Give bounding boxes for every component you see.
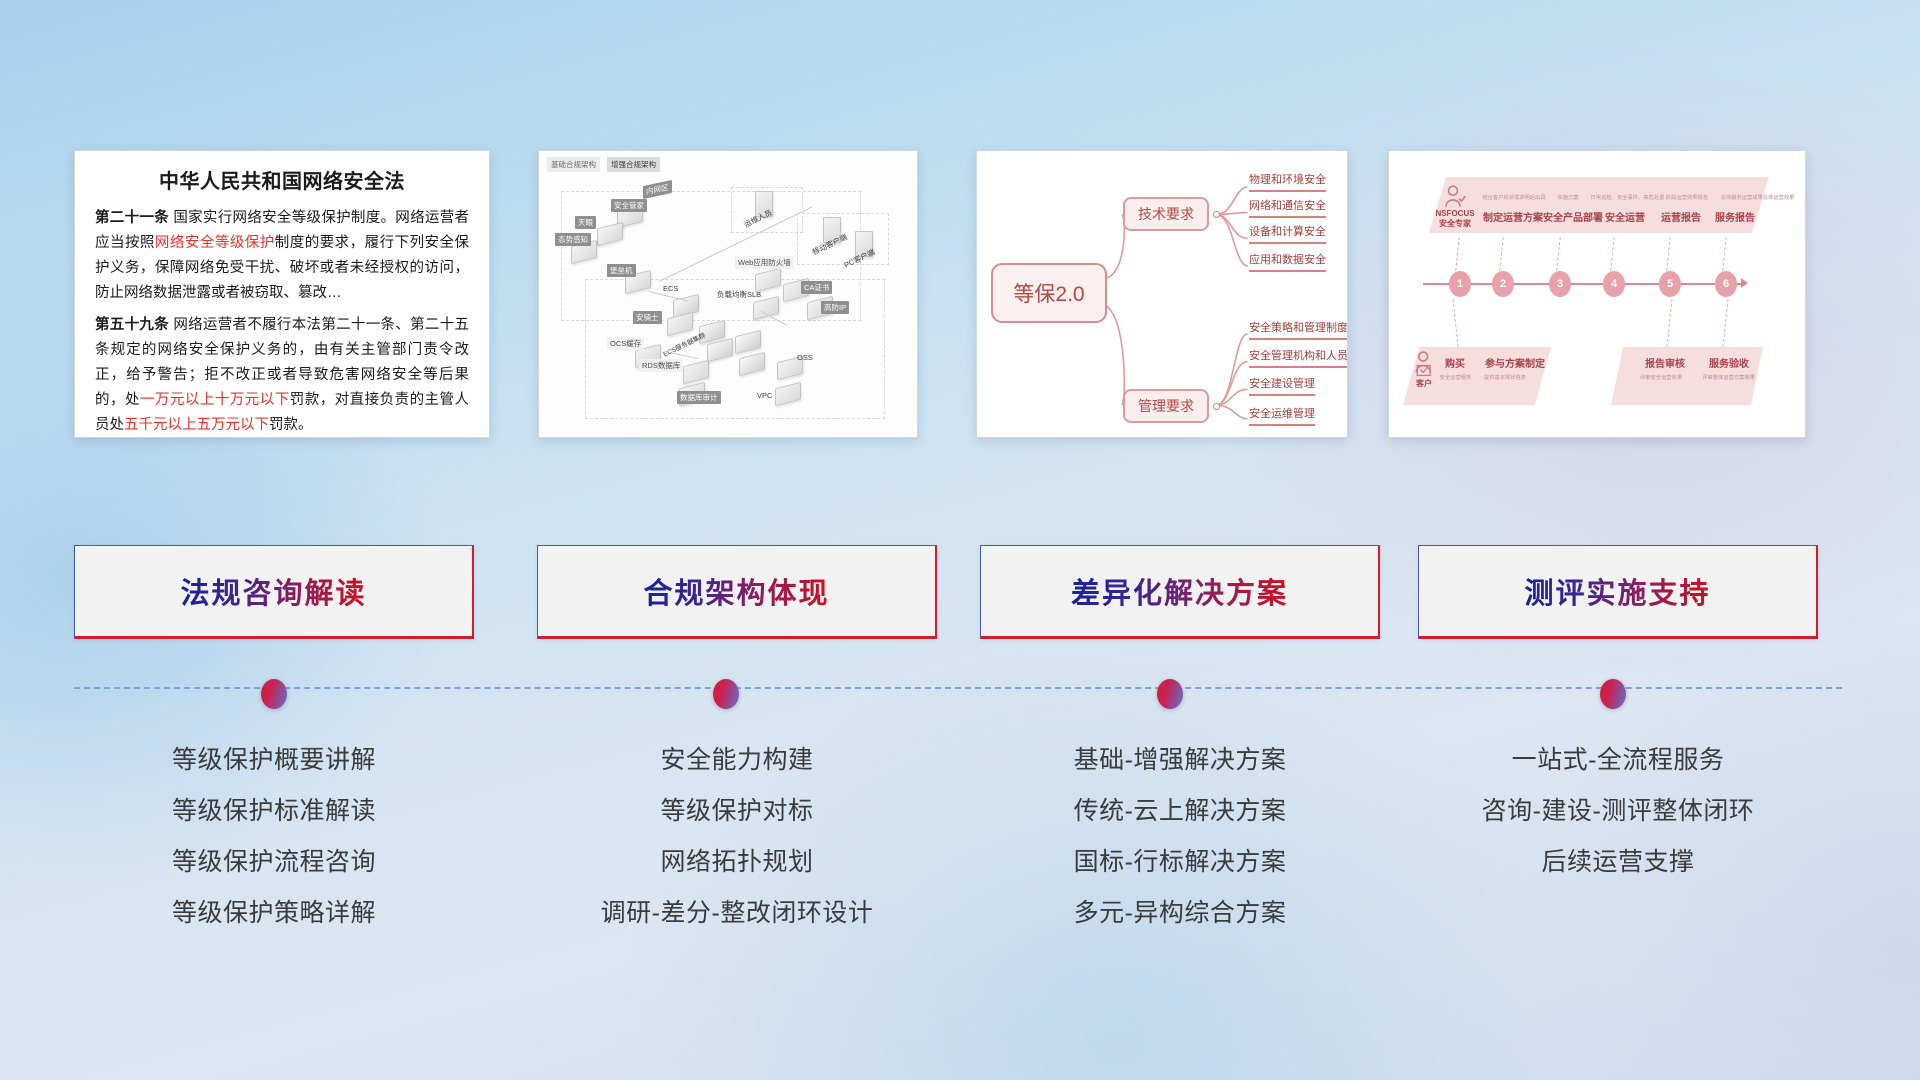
arch-label-vpc: VPC	[757, 391, 772, 400]
process-step-6[interactable]: 6	[1715, 271, 1737, 297]
list-item: 多元-异构综合方案	[980, 888, 1380, 939]
process-axis-arrow-icon	[1741, 278, 1748, 288]
process-step-4[interactable]: 4	[1603, 271, 1625, 297]
mindmap-leaf-operations: 安全运维管理	[1249, 407, 1315, 426]
arch-label-tianyan: 天眼	[575, 216, 596, 229]
arch-label-anqishi: 安骑士	[633, 311, 662, 324]
process-step-3[interactable]: 3	[1549, 271, 1571, 297]
heading-box-regulation-consulting[interactable]: 法规咨询解读	[74, 545, 474, 639]
article-59-highlight-2: 五千元以上五万元以下	[124, 417, 269, 433]
arch-label-situational-awareness: 态势感知	[555, 233, 591, 246]
process-brand-sub: 安全专家	[1431, 219, 1479, 229]
mindmap-collapse-dot-technical[interactable]	[1213, 211, 1220, 218]
list-item: 国标-行标解决方案	[980, 837, 1380, 888]
list-item: 咨询-建设-测评整体闭环	[1418, 786, 1818, 837]
card-mindmap-dengbao[interactable]: 等保2.0 技术要求 物理和环境安全 网络和通信安全 设备和计算安全 应用和数据…	[976, 150, 1348, 438]
process-top-sub-2: 实施方案	[1557, 193, 1578, 201]
mindmap-leaf-physical-env: 物理和环境安全	[1249, 173, 1326, 192]
process-top-title-2: 安全产品部署	[1543, 209, 1603, 224]
architecture-tabs[interactable]: 基础合规架构 增强合规架构	[547, 157, 660, 172]
process-step-5[interactable]: 5	[1659, 271, 1681, 297]
process-brand-name: NSFOCUS	[1431, 209, 1479, 219]
process-bottom-title-3: 报告审核	[1645, 355, 1685, 370]
process-step-2[interactable]: 2	[1492, 271, 1514, 297]
arch-label-ca-cert: CA证书	[801, 281, 832, 294]
card-cybersecurity-law[interactable]: 中华人民共和国网络安全法 第二十一条 国家实行网络安全等级保护制度。网络运营者应…	[74, 150, 490, 438]
list-item: 网络拓扑规划	[537, 837, 937, 888]
arch-label-anti-ddos-ip: 高防IP	[821, 301, 849, 314]
article-59-highlight-1: 一万元以上十万元以下	[140, 392, 290, 408]
process-top-sub-5: 总体服务运营成果总体运营效果	[1721, 193, 1795, 201]
arch-label-waf: Web应用防火墙	[735, 256, 794, 269]
process-top-title-3: 安全运营	[1605, 209, 1645, 224]
process-customer-label: 客户	[1411, 379, 1437, 389]
arch-label-slb: 负载均衡SLB	[717, 289, 761, 300]
arch-label-rds: RDS数据库	[639, 359, 683, 372]
heading-label-1: 法规咨询解读	[180, 570, 366, 612]
list-item: 一站式-全流程服务	[1418, 735, 1818, 786]
heading-label-3: 差异化解决方案	[1071, 570, 1288, 612]
list-item: 等级保护标准解读	[74, 786, 474, 837]
list-item: 传统-云上解决方案	[980, 786, 1380, 837]
heading-box-compliance-architecture[interactable]: 合规架构体现	[537, 545, 937, 639]
arch-label-ecs: ECS	[663, 284, 678, 293]
mindmap-leaf-org-personnel: 安全管理机构和人员	[1249, 349, 1348, 368]
list-item: 等级保护流程咨询	[74, 837, 474, 888]
process-bottom-sub-4: 评审整体运营方案效果	[1702, 373, 1755, 381]
mindmap-branch-management: 管理要求	[1123, 389, 1209, 423]
process-bottom-sub-1: 安全运营服务	[1440, 373, 1472, 381]
arch-label-ocs-cache: OCS缓存	[607, 337, 644, 350]
list-item: 等级保护策略详解	[74, 888, 474, 939]
law-text-body: 中华人民共和国网络安全法 第二十一条 国家实行网络安全等级保护制度。网络运营者应…	[75, 151, 489, 438]
list-item: 等级保护对标	[537, 786, 937, 837]
article-59-label: 第五十九条	[95, 317, 169, 333]
arch-label-oss: OSS	[797, 353, 813, 362]
process-axis-line	[1423, 283, 1743, 285]
arch-label-bastion-host: 堡垒机	[607, 264, 636, 277]
detail-column-2: 安全能力构建 等级保护对标 网络拓扑规划 调研-差分-整改闭环设计	[537, 735, 937, 939]
heading-label-4: 测评实施支持	[1524, 570, 1710, 612]
process-top-title-4: 运营报告	[1661, 209, 1701, 224]
law-article-59: 第五十九条 网络运营者不履行本法第二十一条、第二十五条规定的网络安全保护义务的，…	[95, 313, 469, 438]
architecture-diagram: 基础合规架构 增强合规架构 内网区 安全管家 天眼 态势感知 堡垒机 ECS 安…	[539, 151, 917, 437]
arch-label-security-steward: 安全管家	[611, 199, 647, 212]
process-top-sub-3: 日常巡检、安全事件、高危处置	[1591, 193, 1665, 201]
list-item: 后续运营支撑	[1418, 837, 1818, 888]
article-21-highlight: 网络安全等级保护	[155, 235, 275, 251]
list-item: 等级保护概要讲解	[74, 735, 474, 786]
detail-column-4: 一站式-全流程服务 咨询-建设-测评整体闭环 后续运营支撑	[1418, 735, 1818, 888]
process-bottom-title-2: 参与方案制定	[1485, 355, 1545, 370]
card-nsfocus-process[interactable]: NSFOCUS 安全专家 客户 结合客户现状需求明后出具 实施方案 日常巡检、安…	[1388, 150, 1806, 438]
process-top-title-1: 制定运营方案	[1483, 209, 1543, 224]
article-21-label: 第二十一条	[95, 210, 169, 226]
process-top-title-5: 服务报告	[1715, 209, 1755, 224]
mindmap-leaf-network-comm: 网络和通信安全	[1249, 199, 1326, 218]
process-step-1[interactable]: 1	[1449, 271, 1471, 297]
list-item: 安全能力构建	[537, 735, 937, 786]
process-top-sub-4: 阶段运营效果报告	[1666, 193, 1708, 201]
heading-label-2: 合规架构体现	[643, 570, 829, 612]
process-bottom-title-1: 购买	[1445, 355, 1465, 370]
mindmap-branch-technical: 技术要求	[1123, 197, 1209, 231]
heading-box-differentiated-solution[interactable]: 差异化解决方案	[980, 545, 1380, 639]
card-cloud-architecture[interactable]: 基础合规架构 增强合规架构 内网区 安全管家 天眼 态势感知 堡垒机 ECS 安…	[538, 150, 918, 438]
mindmap-collapse-dot-management[interactable]	[1213, 403, 1220, 410]
mindmap-leaf-device-compute: 设备和计算安全	[1249, 225, 1326, 244]
timeline-dashed-line	[74, 687, 1842, 689]
list-item: 基础-增强解决方案	[980, 735, 1380, 786]
heading-box-assessment-support[interactable]: 测评实施支持	[1418, 545, 1818, 639]
screenshot-card-row: 中华人民共和国网络安全法 第二十一条 国家实行网络安全等级保护制度。网络运营者应…	[0, 150, 1920, 440]
arch-label-db-audit: 数据库审计	[677, 391, 721, 404]
article-59-text-c: 罚款。	[269, 417, 313, 433]
mindmap-leaf-policy-system: 安全策略和管理制度	[1249, 321, 1348, 340]
process-top-sub-1: 结合客户现状需求明后出具	[1482, 193, 1545, 201]
list-item: 调研-差分-整改闭环设计	[537, 888, 937, 939]
process-bottom-sub-3: 评审安全运营效果	[1640, 373, 1682, 381]
process-diagram: NSFOCUS 安全专家 客户 结合客户现状需求明后出具 实施方案 日常巡检、安…	[1389, 151, 1805, 437]
timeline-dot-2[interactable]	[713, 679, 739, 709]
process-bottom-sub-2: 提供基本现状信息	[1484, 373, 1526, 381]
timeline-dot-4[interactable]	[1600, 679, 1626, 709]
detail-column-1: 等级保护概要讲解 等级保护标准解读 等级保护流程咨询 等级保护策略详解	[74, 735, 474, 939]
process-brand-block: NSFOCUS 安全专家	[1431, 209, 1479, 229]
law-article-21: 第二十一条 国家实行网络安全等级保护制度。网络运营者应当按照网络安全等级保护制度…	[95, 206, 469, 306]
mindmap-leaf-app-data: 应用和数据安全	[1249, 253, 1326, 272]
timeline-dot-3[interactable]	[1157, 679, 1183, 709]
mindmap-leaf-construction: 安全建设管理	[1249, 377, 1315, 396]
law-title: 中华人民共和国网络安全法	[95, 165, 469, 194]
timeline-dot-1[interactable]	[261, 679, 287, 709]
process-bottom-title-4: 服务验收	[1709, 355, 1749, 370]
mindmap-root-node: 等保2.0	[991, 263, 1107, 323]
heading-box-row: 法规咨询解读 合规架构体现 差异化解决方案 测评实施支持	[0, 545, 1920, 645]
tab-basic-architecture[interactable]: 基础合规架构	[547, 157, 600, 172]
mindmap-diagram: 等保2.0 技术要求 物理和环境安全 网络和通信安全 设备和计算安全 应用和数据…	[977, 151, 1347, 437]
detail-column-3: 基础-增强解决方案 传统-云上解决方案 国标-行标解决方案 多元-异构综合方案	[980, 735, 1380, 939]
tab-enhanced-architecture[interactable]: 增强合规架构	[607, 157, 660, 172]
